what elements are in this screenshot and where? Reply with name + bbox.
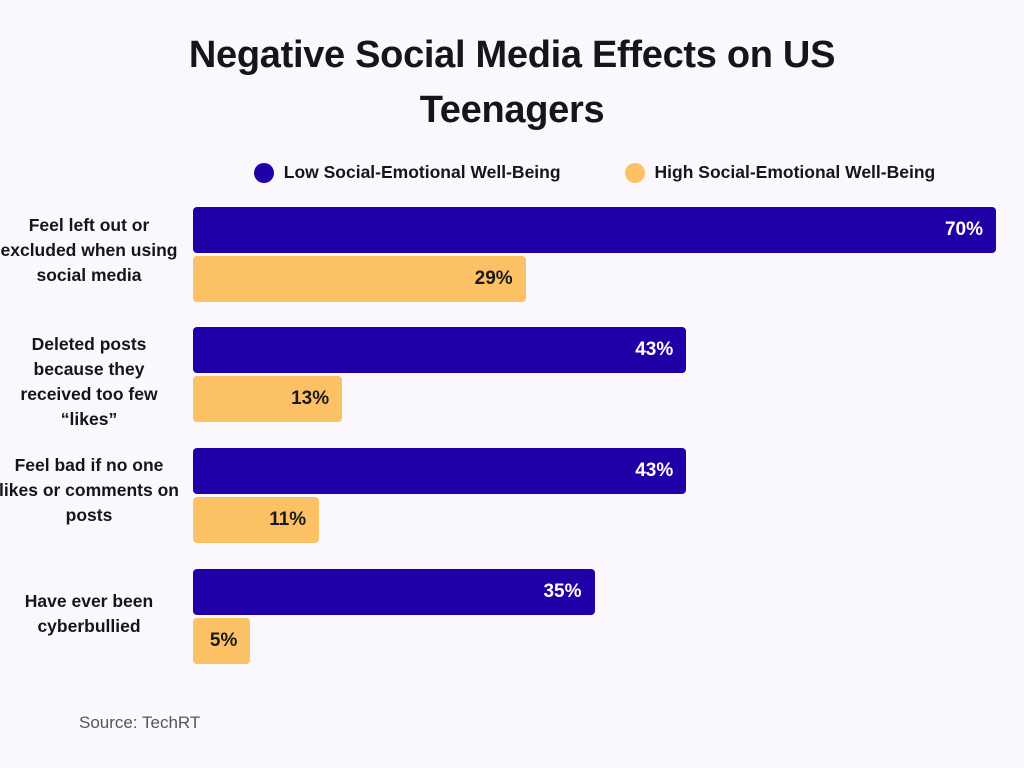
bar-low[interactable]: 43% bbox=[193, 448, 686, 494]
bar-value-label: 35% bbox=[543, 581, 594, 603]
bar-pair: 43% 13% bbox=[193, 327, 1024, 422]
chart-container: Negative Social Media Effects on US Teen… bbox=[0, 0, 1024, 768]
chart-title: Negative Social Media Effects on US Teen… bbox=[120, 28, 904, 138]
legend-item-high[interactable]: High Social-Emotional Well-Being bbox=[625, 162, 936, 183]
bar-group: Have ever been cyberbullied 35% 5% bbox=[0, 569, 1024, 684]
category-label: Have ever been cyberbullied bbox=[0, 589, 182, 639]
bar-high[interactable]: 11% bbox=[193, 497, 319, 543]
bar-pair: 70% 29% bbox=[193, 207, 1024, 302]
category-label: Feel left out or excluded when using soc… bbox=[0, 213, 182, 288]
bar-low[interactable]: 35% bbox=[193, 569, 595, 615]
bar-value-label: 43% bbox=[635, 460, 686, 482]
legend-swatch-circle-icon bbox=[254, 163, 274, 183]
bar-low[interactable]: 43% bbox=[193, 327, 686, 373]
bar-value-label: 5% bbox=[210, 630, 250, 652]
category-label: Deleted posts because they received too … bbox=[0, 332, 182, 431]
category-label: Feel bad if no one likes or comments on … bbox=[0, 453, 182, 528]
bar-group: Deleted posts because they received too … bbox=[0, 327, 1024, 442]
bar-group: Feel left out or excluded when using soc… bbox=[0, 207, 1024, 322]
bar-value-label: 29% bbox=[475, 268, 526, 290]
bar-value-label: 13% bbox=[291, 388, 342, 410]
legend-swatch-circle-icon bbox=[625, 163, 645, 183]
bar-low[interactable]: 70% bbox=[193, 207, 996, 253]
bar-high[interactable]: 29% bbox=[193, 256, 526, 302]
bar-value-label: 11% bbox=[269, 509, 319, 531]
bar-high[interactable]: 13% bbox=[193, 376, 342, 422]
legend-label-high: High Social-Emotional Well-Being bbox=[655, 162, 936, 183]
bar-group: Feel bad if no one likes or comments on … bbox=[0, 448, 1024, 563]
bar-value-label: 70% bbox=[945, 219, 996, 241]
bar-pair: 35% 5% bbox=[193, 569, 1024, 664]
chart-legend: Low Social-Emotional Well-Being High Soc… bbox=[193, 162, 996, 183]
bar-high[interactable]: 5% bbox=[193, 618, 250, 664]
plot-area: Feel left out or excluded when using soc… bbox=[0, 207, 1024, 672]
bar-pair: 43% 11% bbox=[193, 448, 1024, 543]
bar-value-label: 43% bbox=[635, 339, 686, 361]
source-note: Source: TechRT bbox=[79, 713, 200, 733]
legend-item-low[interactable]: Low Social-Emotional Well-Being bbox=[254, 162, 561, 183]
legend-label-low: Low Social-Emotional Well-Being bbox=[284, 162, 561, 183]
